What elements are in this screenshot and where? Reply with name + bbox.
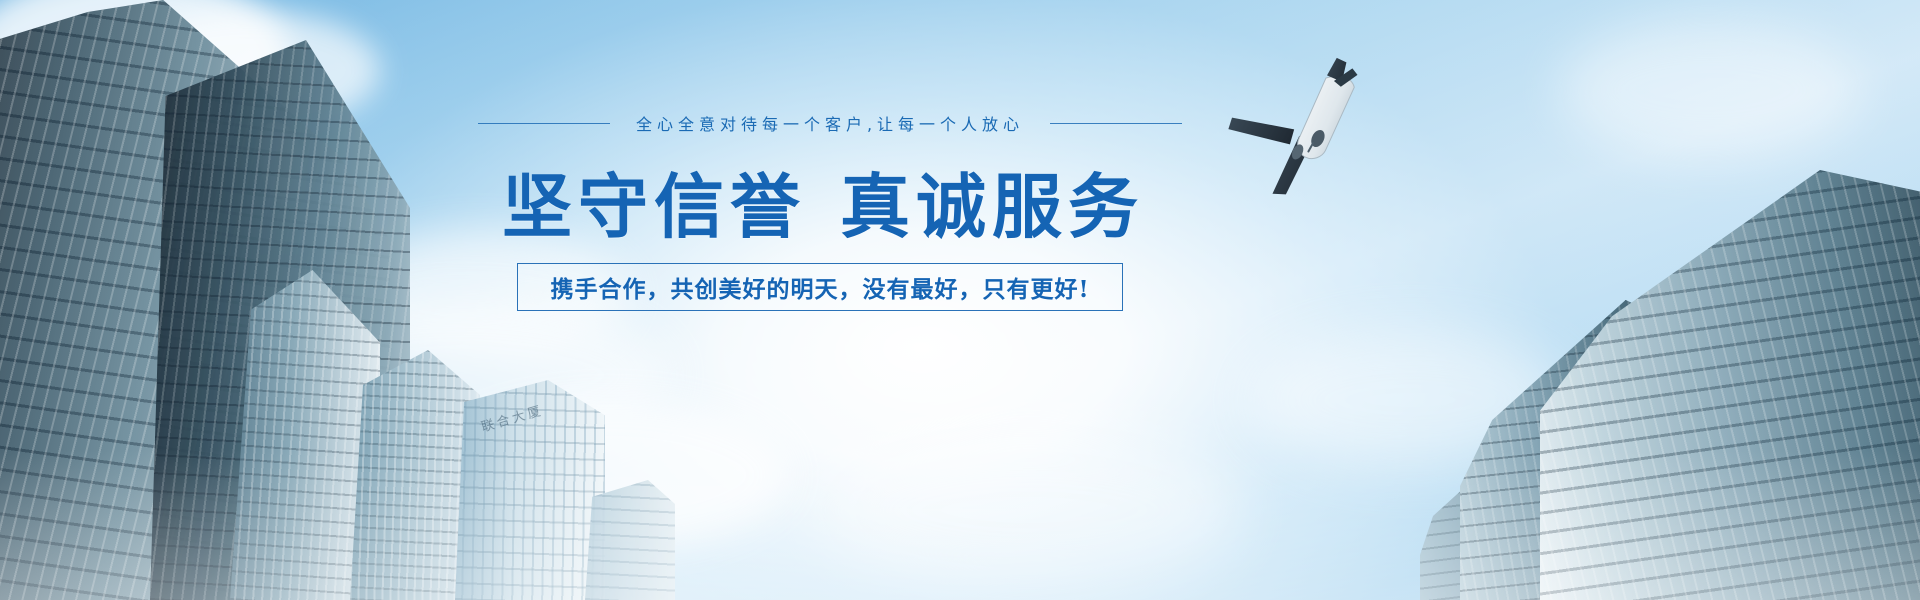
banner-content: 全心全意对待每一个客户,让每一个人放心 坚守信誉真诚服务 携手合作，共创美好的明…	[0, 0, 1920, 600]
hero-banner: 联合大厦	[0, 0, 1920, 600]
page-title: 坚守信誉真诚服务	[0, 168, 1646, 246]
subtitle-box: 携手合作，共创美好的明天，没有最好，只有更好!	[517, 263, 1123, 311]
headline-part-right: 真诚服务	[840, 165, 1144, 248]
tagline-row: 全心全意对待每一个客户,让每一个人放心	[0, 111, 1660, 135]
headline-part-left: 坚守信誉	[502, 165, 806, 248]
decor-rule-right-icon	[1050, 123, 1182, 124]
subtitle-text: 携手合作，共创美好的明天，没有最好，只有更好!	[550, 270, 1089, 304]
tagline-text: 全心全意对待每一个客户,让每一个人放心	[636, 111, 1024, 135]
decor-rule-left-icon	[478, 123, 610, 124]
